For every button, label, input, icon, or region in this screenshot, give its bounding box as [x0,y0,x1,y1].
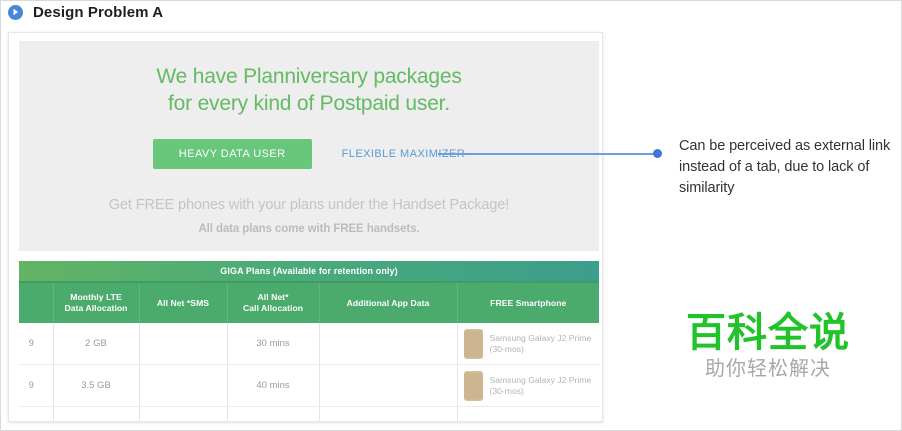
smartphone-icon [464,371,483,401]
watermark-title: 百科全说 [668,312,868,354]
cell-additional-app-data [319,365,457,407]
hero-section: We have Planniversary packages for every… [19,41,599,251]
table-header-row: Monthly LTE Data Allocation All Net *SMS… [19,282,599,323]
column-header-data-allocation: Monthly LTE Data Allocation [53,282,139,323]
cell-free-smartphone: Samsung Galaxy J2 Prime (30-mos) [457,323,599,365]
document-header: Design Problem A [0,0,902,24]
screenshot-card: We have Planniversary packages for every… [8,32,603,422]
cell-free-smartphone: Samsung Galaxy J2 Prime (30-mos) [457,365,599,407]
column-header-free-smartphone: FREE Smartphone [457,282,599,323]
cell-price [19,407,53,422]
cell-free-smartphone [457,407,599,422]
phone-name-line-1: Samsung Galaxy J2 Prime [490,375,592,385]
column-header-sms: All Net *SMS [139,282,227,323]
plans-table: GIGA Plans (Available for retention only… [19,261,599,421]
phone-name-line-2: (30-mos) [490,344,524,354]
cell-sms [139,407,227,422]
table-row-partial: 1 FREE [19,407,599,422]
cell-sms [139,365,227,407]
callout-connector-dot [653,149,662,158]
phone-entry: Samsung Galaxy J2 Prime (30-mos) [464,329,598,359]
cell-price: 9 [19,323,53,365]
cell-call-allocation: 30 mins [227,323,319,365]
plans-table-head: GIGA Plans (Available for retention only… [19,261,599,323]
page-title: Design Problem A [33,4,163,21]
smartphone-icon [464,329,483,359]
cell-call-allocation [227,407,319,422]
table-banner: GIGA Plans (Available for retention only… [19,261,599,282]
screenshot-content: We have Planniversary packages for every… [19,41,599,421]
watermark-subtitle: 助你轻松解决 [668,356,868,380]
column-header-data-line-1: Monthly LTE [70,292,121,302]
column-header-price [19,282,53,323]
cell-data-allocation: 3.5 GB [53,365,139,407]
cell-call-allocation: 40 mins [227,365,319,407]
phone-name-line-2: (30-mos) [490,386,524,396]
watermark: 百科全说 助你轻松解决 [668,312,868,380]
hero-title: We have Planniversary packages for every… [79,63,539,117]
tab-heavy-data-user[interactable]: HEAVY DATA USER [153,139,312,169]
hero-subtitle-secondary: All data plans come with FREE handsets. [19,223,599,235]
cell-data-allocation: 2 GB [53,323,139,365]
cell-price-value: 9 [29,380,34,391]
cell-sms [139,323,227,365]
phone-name-line-1: Samsung Galaxy J2 Prime [490,333,592,343]
callout-text: Can be perceived as external link instea… [679,136,902,199]
cell-additional-app-data [319,323,457,365]
cell-data-allocation [53,407,139,422]
cell-additional-app-data: 1 FREE [319,407,457,422]
column-header-call-line-1: All Net* [258,292,289,302]
column-header-call-allocation: All Net* Call Allocation [227,282,319,323]
table-banner-row: GIGA Plans (Available for retention only… [19,261,599,282]
column-header-additional-app-data: Additional App Data [319,282,457,323]
play-circle-icon [8,5,23,20]
phone-name: Samsung Galaxy J2 Prime (30-mos) [490,333,592,355]
column-header-call-line-2: Call Allocation [243,303,303,313]
hero-title-line-2: for every kind of Postpaid user. [79,90,539,117]
table-row: 9 2 GB 30 mins Samsung Galaxy J2 Prime (… [19,323,599,365]
table-row: 9 3.5 GB 40 mins Samsung Galaxy J2 Prime… [19,365,599,407]
phone-name: Samsung Galaxy J2 Prime (30-mos) [490,375,592,397]
plans-table-body: 9 2 GB 30 mins Samsung Galaxy J2 Prime (… [19,323,599,421]
cell-price: 9 [19,365,53,407]
hero-subtitle-primary: Get FREE phones with your plans under th… [19,197,599,213]
cell-price-value: 9 [29,338,34,349]
column-header-data-line-2: Data Allocation [65,303,128,313]
callout-connector-line [438,153,655,155]
phone-entry: Samsung Galaxy J2 Prime (30-mos) [464,371,598,401]
hero-title-line-1: We have Planniversary packages [156,65,461,88]
